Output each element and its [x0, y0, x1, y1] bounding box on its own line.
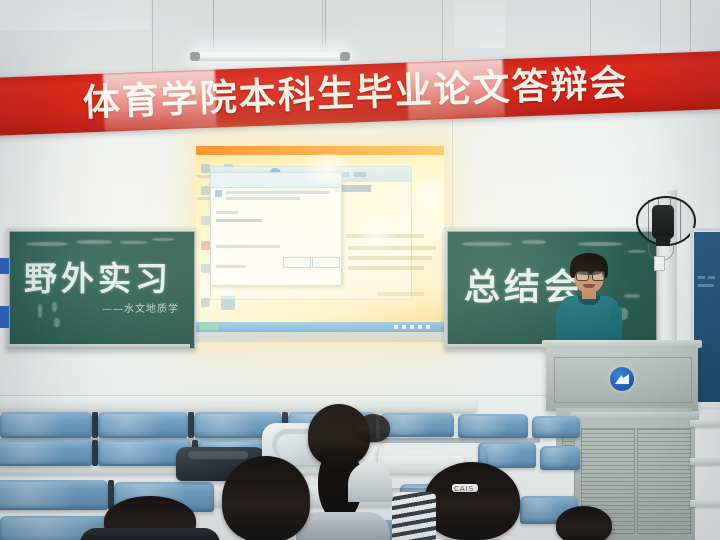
hair-clip-text: CAIS — [454, 485, 474, 493]
student-head — [424, 462, 520, 540]
seat[interactable] — [458, 414, 528, 438]
lectern-top — [542, 340, 702, 348]
blackboard-left: 野外实习 ——水文地质学 — [6, 228, 196, 350]
blackboard-edge-marker — [0, 306, 9, 328]
fan-motor — [652, 205, 674, 239]
projector-screen — [196, 146, 444, 342]
seat[interactable] — [380, 413, 454, 437]
seat[interactable] — [0, 440, 92, 466]
projected-dialog — [210, 172, 342, 286]
striped-sleeve — [392, 492, 436, 540]
desktop-icon — [201, 186, 210, 195]
seat[interactable] — [532, 416, 580, 438]
student-shoulders — [348, 462, 392, 502]
cabinet-door[interactable] — [637, 428, 691, 534]
desktop-icon — [201, 164, 210, 173]
seat[interactable] — [0, 412, 92, 438]
student-shoulders — [296, 512, 390, 540]
student-shoulders — [80, 528, 220, 540]
blackboard-left-heading: 野外实习 — [24, 252, 172, 300]
blackboard-edge-marker — [0, 258, 9, 274]
seat[interactable] — [540, 446, 580, 470]
desktop-icon — [201, 298, 210, 307]
desktop-icon — [201, 241, 210, 250]
lectern — [546, 345, 698, 411]
institution-logo-icon — [610, 367, 634, 391]
seat[interactable] — [98, 412, 188, 438]
desk-row — [0, 398, 476, 412]
desktop-icon — [201, 264, 210, 273]
student-head — [356, 414, 390, 442]
glasses-icon — [592, 271, 605, 281]
wall-shelf — [690, 420, 720, 510]
light-cord — [325, 0, 326, 46]
start-button — [199, 324, 219, 330]
classroom-photo: 体育学院本科生毕业论文答辩会 — [0, 0, 720, 540]
light-cord — [213, 0, 214, 52]
dialog-button — [312, 257, 340, 268]
desktop-icon — [201, 216, 210, 225]
student-head — [556, 506, 612, 540]
ceiling-light — [196, 52, 346, 61]
projected-taskbar — [196, 322, 444, 332]
glasses-icon — [576, 271, 589, 281]
blackboard-left-subtitle: ——水文地质学 — [102, 300, 179, 315]
wall-switch[interactable] — [654, 256, 665, 271]
student-head — [222, 456, 310, 540]
warning-icon — [215, 190, 222, 197]
dialog-button — [283, 257, 311, 268]
seat[interactable] — [0, 480, 108, 510]
